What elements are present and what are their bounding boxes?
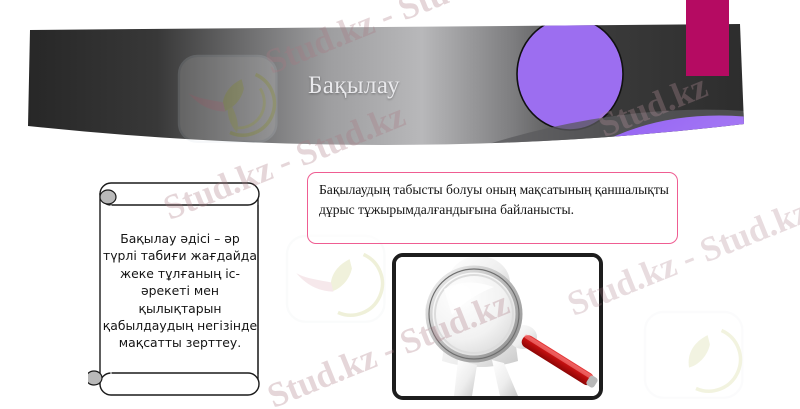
- magnifying-glass-figure-illustration: [396, 257, 599, 396]
- slide-header-banner: Бақылау: [0, 0, 800, 160]
- banner-graphic: [0, 0, 800, 160]
- scroll-callout: Бақылау әдісі – әр түрлі табиғи жағдайда…: [88, 178, 273, 400]
- accent-bar: [686, 0, 729, 76]
- slide-title: Бақылау: [308, 72, 400, 100]
- scroll-text: Бақылау әдісі – әр түрлі табиғи жағдайда…: [102, 230, 258, 352]
- pink-callout-box: Бақылаудың табысты болуы оның мақсатының…: [307, 172, 678, 244]
- banner-ellipse-decoration: [517, 18, 623, 130]
- pink-callout-text: Бақылаудың табысты болуы оның мақсатының…: [319, 180, 669, 219]
- illustration-frame: [392, 253, 603, 400]
- hummingbird-logo-icon: [638, 298, 754, 409]
- banner-wave-decoration-light: [600, 132, 770, 160]
- presentation-slide: Бақылау Бақы: [0, 0, 800, 409]
